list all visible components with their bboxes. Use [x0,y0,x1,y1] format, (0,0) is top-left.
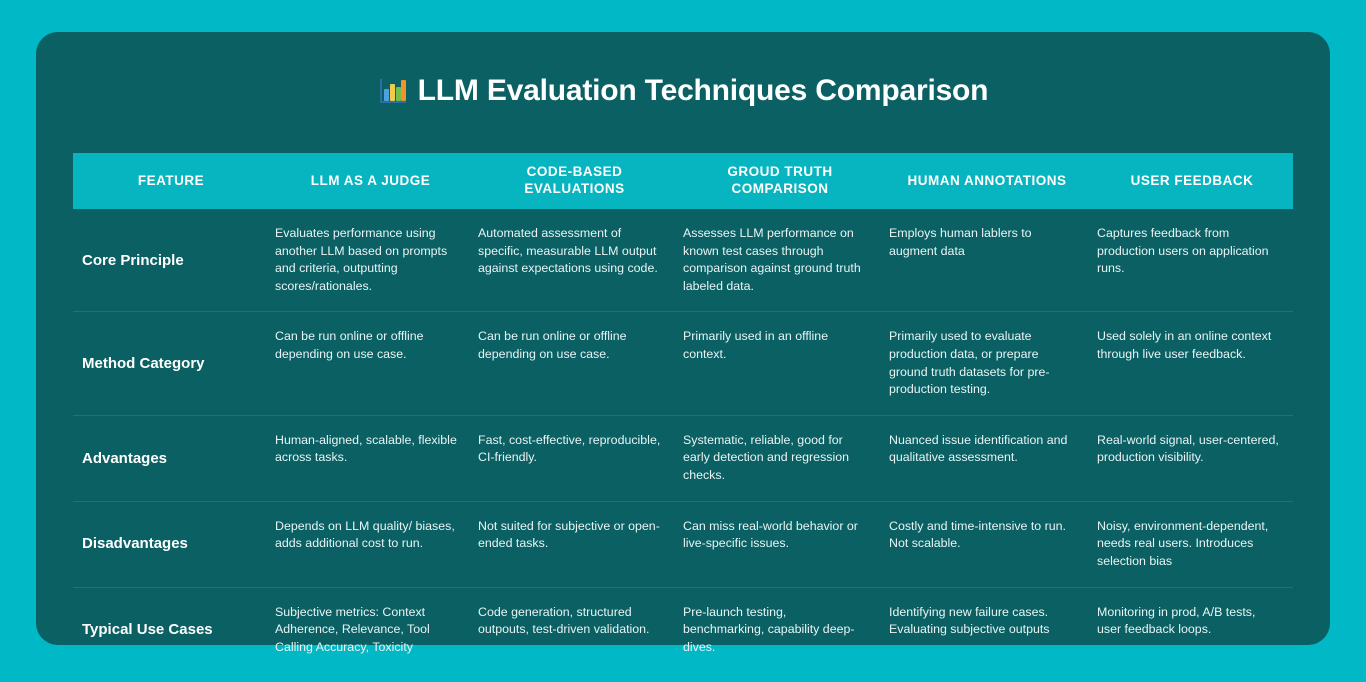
cell-advantages-user-feedback: Real-world signal, user-centered, produc… [1091,416,1293,483]
page-title-text: LLM Evaluation Techniques Comparison [418,74,989,108]
cell-advantages-human-annotations: Nuanced issue identification and qualita… [883,416,1091,483]
cell-method-category-human-annotations: Primarily used to evaluate production da… [883,312,1091,414]
cell-typical-use-cases-llm-as-a-judge: Subjective metrics: Context Adherence, R… [269,588,472,673]
cell-disadvantages-user-feedback: Noisy, environment-dependent, needs real… [1091,502,1293,587]
column-header-code-based-evaluations: CODE-BASED EVALUATIONS [472,158,677,204]
cell-core-principle-human-annotations: Employs human lablers to augment data [883,209,1091,276]
cell-core-principle-code-based: Automated assessment of specific, measur… [472,209,677,294]
row-label-disadvantages: Disadvantages [73,502,269,587]
column-header-human-annotations: HUMAN ANNOTATIONS [883,167,1091,196]
row-label-core-principle: Core Principle [73,209,269,311]
table-row: Core Principle Evaluates performance usi… [73,209,1293,312]
column-header-llm-as-a-judge: LLM AS A JUDGE [269,167,472,196]
row-label-typical-use-cases: Typical Use Cases [73,588,269,673]
screenshot-root: LLM Evaluation Techniques Comparison FEA… [0,0,1366,682]
cell-core-principle-user-feedback: Captures feedback from production users … [1091,209,1293,294]
cell-advantages-code-based: Fast, cost-effective, reproducible, CI-f… [472,416,677,483]
cell-method-category-ground-truth: Primarily used in an offline context. [677,312,883,379]
cell-method-category-user-feedback: Used solely in an online context through… [1091,312,1293,379]
cell-core-principle-llm-as-a-judge: Evaluates performance using another LLM … [269,209,472,311]
cell-advantages-llm-as-a-judge: Human-aligned, scalable, flexible across… [269,416,472,483]
table-row: Method Category Can be run online or off… [73,312,1293,415]
comparison-card: LLM Evaluation Techniques Comparison FEA… [36,32,1330,645]
cell-typical-use-cases-human-annotations: Identifying new failure cases. Evaluatin… [883,588,1091,655]
cell-typical-use-cases-user-feedback: Monitoring in prod, A/B tests, user feed… [1091,588,1293,655]
column-header-groud-truth-comparison: GROUD TRUTH COMPARISON [677,158,883,204]
cell-advantages-ground-truth: Systematic, reliable, good for early det… [677,416,883,501]
cell-disadvantages-llm-as-a-judge: Depends on LLM quality/ biases, adds add… [269,502,472,569]
column-header-feature: FEATURE [73,167,269,196]
row-label-advantages: Advantages [73,416,269,501]
column-header-user-feedback: USER FEEDBACK [1091,167,1293,196]
bar-chart-icon [378,76,408,106]
cell-method-category-code-based: Can be run online or offline depending o… [472,312,677,379]
table-header-row: FEATURE LLM AS A JUDGE CODE-BASED EVALUA… [73,153,1293,209]
table-row: Typical Use Cases Subjective metrics: Co… [73,588,1293,673]
table-row: Disadvantages Depends on LLM quality/ bi… [73,502,1293,588]
cell-core-principle-ground-truth: Assesses LLM performance on known test c… [677,209,883,311]
comparison-table: FEATURE LLM AS A JUDGE CODE-BASED EVALUA… [73,153,1293,672]
cell-typical-use-cases-ground-truth: Pre-launch testing, benchmarking, capabi… [677,588,883,673]
cell-method-category-llm-as-a-judge: Can be run online or offline depending o… [269,312,472,379]
page-title: LLM Evaluation Techniques Comparison [36,74,1330,108]
cell-typical-use-cases-code-based: Code generation, structured outpouts, te… [472,588,677,655]
table-row: Advantages Human-aligned, scalable, flex… [73,416,1293,502]
row-label-method-category: Method Category [73,312,269,414]
cell-disadvantages-code-based: Not suited for subjective or open-ended … [472,502,677,569]
cell-disadvantages-human-annotations: Costly and time-intensive to run. Not sc… [883,502,1091,569]
cell-disadvantages-ground-truth: Can miss real-world behavior or live-spe… [677,502,883,569]
